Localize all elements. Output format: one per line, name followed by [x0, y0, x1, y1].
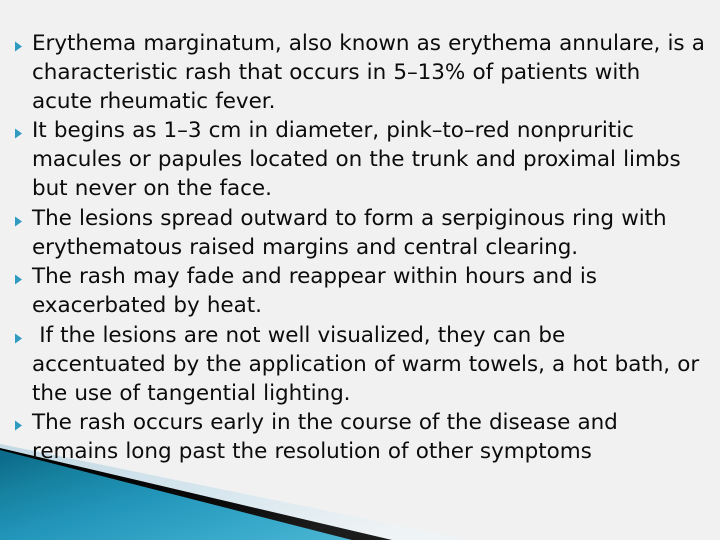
bullet-list: Erythema marginatum, also known as eryth… — [0, 0, 720, 468]
bullet-item: If the lesions are not well visualized, … — [14, 322, 706, 408]
bullet-item: Erythema marginatum, also known as eryth… — [14, 30, 706, 116]
triangle-right-bullet-icon — [14, 117, 32, 139]
bullet-text: It begins as 1–3 cm in diameter, pink–to… — [32, 117, 706, 203]
bullet-item: The rash may fade and reappear within ho… — [14, 263, 706, 321]
triangle-right-bullet-icon — [14, 263, 32, 285]
bullet-text: The lesions spread outward to form a ser… — [32, 205, 706, 263]
triangle-right-bullet-icon — [14, 30, 32, 52]
triangle-right-bullet-icon — [14, 205, 32, 227]
triangle-right-bullet-icon — [14, 322, 32, 344]
bullet-text: The rash occurs early in the course of t… — [32, 409, 706, 467]
bullet-item: It begins as 1–3 cm in diameter, pink–to… — [14, 117, 706, 203]
bullet-item: The rash occurs early in the course of t… — [14, 409, 706, 467]
bullet-text: Erythema marginatum, also known as eryth… — [32, 30, 706, 116]
triangle-right-bullet-icon — [14, 409, 32, 431]
bullet-item: The lesions spread outward to form a ser… — [14, 205, 706, 263]
bullet-text: If the lesions are not well visualized, … — [32, 322, 706, 408]
bullet-text: The rash may fade and reappear within ho… — [32, 263, 706, 321]
slide-canvas: Erythema marginatum, also known as eryth… — [0, 0, 720, 540]
